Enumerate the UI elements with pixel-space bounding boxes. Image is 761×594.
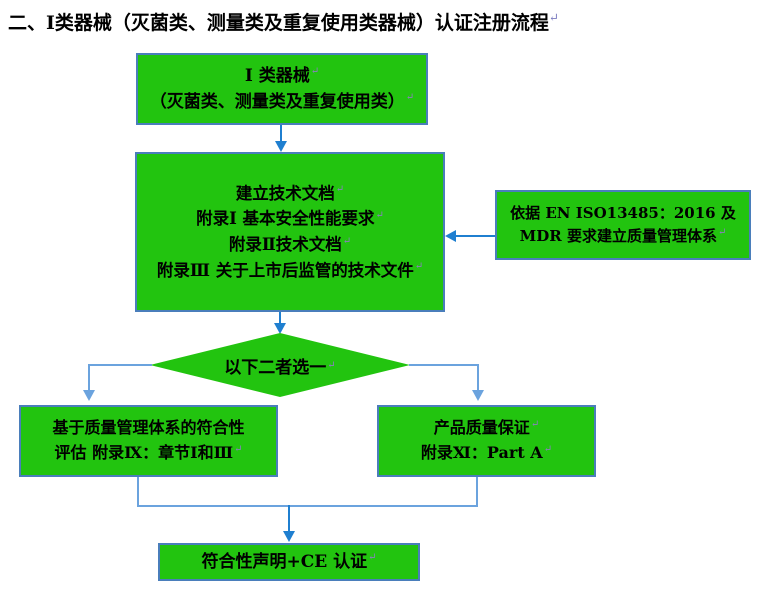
paragraph-mark-icon: ↵	[376, 210, 384, 221]
arrowhead-down-icon	[472, 390, 484, 401]
paragraph-mark-icon: ↵	[336, 184, 344, 195]
connector-decision-to-conformity-vertical	[88, 364, 90, 391]
connector-decision-to-conformity-horizontal	[88, 364, 152, 366]
node-line: 评估 附录Ⅸ：章节Ⅰ和Ⅲ↵	[55, 441, 243, 466]
connector-device-to-techdoc	[280, 125, 282, 142]
paragraph-mark-icon: ↵	[343, 236, 351, 247]
arrowhead-down-icon	[275, 141, 287, 152]
paragraph-mark-icon: ↵	[368, 552, 376, 563]
paragraph-mark-icon: ↵	[406, 92, 414, 103]
node-declaration-of-conformity-ce[interactable]: 符合性声明+CE 认证↵	[158, 543, 420, 581]
node-line: 附录Ⅰ 基本安全性能要求↵	[196, 206, 384, 232]
paragraph-mark-icon: ↵	[544, 444, 552, 455]
connector-decision-to-quality-horizontal	[409, 364, 479, 366]
node-class-i-device[interactable]: Ⅰ 类器械↵ （灭菌类、测量类及重复使用类）↵	[136, 53, 428, 125]
arrowhead-left-icon	[445, 230, 456, 242]
connector-quality-merge-vertical	[476, 477, 478, 506]
connector-merge-horizontal	[137, 505, 478, 507]
paragraph-mark-icon: ↵	[327, 360, 335, 371]
connector-qms-to-techdoc	[456, 235, 495, 237]
node-product-quality-assurance[interactable]: 产品质量保证↵ 附录Ⅺ：Part A↵	[377, 405, 596, 477]
connector-conformity-merge-vertical	[137, 477, 139, 506]
paragraph-mark-icon: ↵	[549, 11, 559, 25]
node-line: 以下二者选一↵	[150, 333, 410, 397]
paragraph-mark-icon: ↵	[415, 261, 423, 272]
node-quality-management-system[interactable]: 依据 EN ISO13485：2016 及 MDR 要求建立质量管理体系↵	[495, 190, 751, 260]
paragraph-mark-icon: ↵	[718, 227, 726, 238]
node-line: 附录Ⅲ 关于上市后监管的技术文件↵	[157, 258, 423, 284]
connector-merge-to-declaration	[288, 505, 290, 532]
node-line: 附录Ⅱ技术文档↵	[229, 232, 351, 258]
page-title: 二、Ⅰ类器械（灭菌类、测量类及重复使用类器械）认证注册流程↵	[8, 8, 559, 35]
node-decision-choose-one[interactable]: 以下二者选一↵	[150, 333, 410, 397]
paragraph-mark-icon: ↵	[234, 444, 242, 455]
node-qms-conformity-assessment[interactable]: 基于质量管理体系的符合性 评估 附录Ⅸ：章节Ⅰ和Ⅲ↵	[19, 405, 278, 477]
node-line: 基于质量管理体系的符合性	[52, 416, 244, 441]
arrowhead-down-icon	[83, 390, 95, 401]
node-line: （灭菌类、测量类及重复使用类）↵	[150, 89, 414, 115]
node-line: 符合性声明+CE 认证↵	[201, 549, 376, 575]
node-line: 依据 EN ISO13485：2016 及	[510, 202, 736, 225]
node-line: 产品质量保证↵	[434, 416, 539, 441]
node-line: 建立技术文档↵	[236, 181, 344, 207]
connector-decision-to-quality-vertical	[477, 364, 479, 391]
arrowhead-down-icon	[283, 531, 295, 542]
node-line: MDR 要求建立质量管理体系↵	[520, 225, 727, 248]
node-technical-documentation[interactable]: 建立技术文档↵ 附录Ⅰ 基本安全性能要求↵ 附录Ⅱ技术文档↵ 附录Ⅲ 关于上市后…	[135, 152, 445, 312]
paragraph-mark-icon: ↵	[531, 419, 539, 430]
node-line: 附录Ⅺ：Part A↵	[421, 441, 552, 466]
paragraph-mark-icon: ↵	[311, 66, 319, 77]
page-title-text: 二、Ⅰ类器械（灭菌类、测量类及重复使用类器械）认证注册流程	[8, 12, 549, 34]
node-line: Ⅰ 类器械↵	[245, 63, 319, 89]
